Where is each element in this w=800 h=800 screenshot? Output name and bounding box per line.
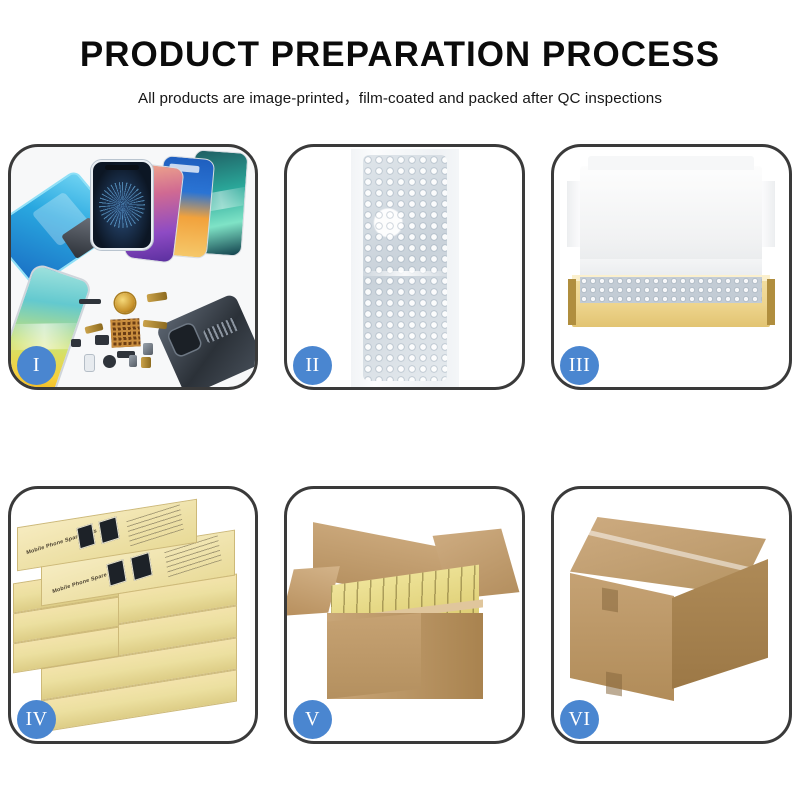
small-part-icon [71,339,81,347]
page-subtitle: All products are image-printed，film-coat… [0,86,800,108]
wrap-seam-icon [363,271,447,276]
process-step-card-2: II [284,144,525,390]
chip-array-icon [110,318,140,347]
process-step-card-1: I [8,144,258,390]
speaker-icon [103,355,116,368]
button-flex-icon [129,355,137,367]
bubble-texture-icon [363,155,447,381]
process-step-card-5: V [284,486,525,744]
flex-cable-icon-1 [147,292,168,303]
badge-step-1: I [17,346,56,385]
lid-tab-right-icon [762,181,775,247]
battery-connector-icon [141,357,151,368]
badge-step-3: III [560,346,599,385]
carton-front-panel-icon [327,613,421,699]
flex-cable-icon-2 [143,320,168,329]
phone-backplate-icon [155,293,255,387]
page-title: PRODUCT PREPARATION PROCESS [0,36,800,75]
bubble-wrapped-product-icon [363,155,447,381]
box-screen-graphic-2 [98,516,119,544]
box-screen-graphic-4 [130,552,153,581]
carton-tape-icon-2 [606,672,622,697]
copper-coil-icon [115,293,135,313]
process-step-grid: I II III [8,144,792,744]
tempered-glass-icon [91,160,153,250]
sealed-carton-left-face-icon [570,573,674,701]
badge-step-2: II [293,346,332,385]
badge-step-5: V [293,700,332,739]
lid-tab-left-icon [567,181,580,247]
bubble-wrapped-contents-icon [580,277,762,303]
badge-step-4: IV [17,700,56,739]
box-spec-lines-1 [126,504,183,546]
box-flap-right-icon [767,279,775,325]
process-step-card-6: VI [551,486,792,744]
camera-module-icon [143,343,153,355]
box-flap-left-icon [568,279,576,325]
box-screen-graphic-3 [106,559,126,586]
badge-step-6: VI [560,700,599,739]
process-step-card-3: III [551,144,792,390]
connector-icon-1 [95,335,109,345]
flex-cable-icon-3 [84,323,103,334]
carton-tape-icon-1 [602,588,618,613]
part-bar-icon [79,299,101,304]
page-header: PRODUCT PREPARATION PROCESS All products… [0,0,800,108]
box-screen-graphic-1 [76,523,95,549]
process-step-card-4: Mobile Phone Spare Parts Mobile Phone Sp… [8,486,258,744]
sim-tray-icon [85,355,94,371]
